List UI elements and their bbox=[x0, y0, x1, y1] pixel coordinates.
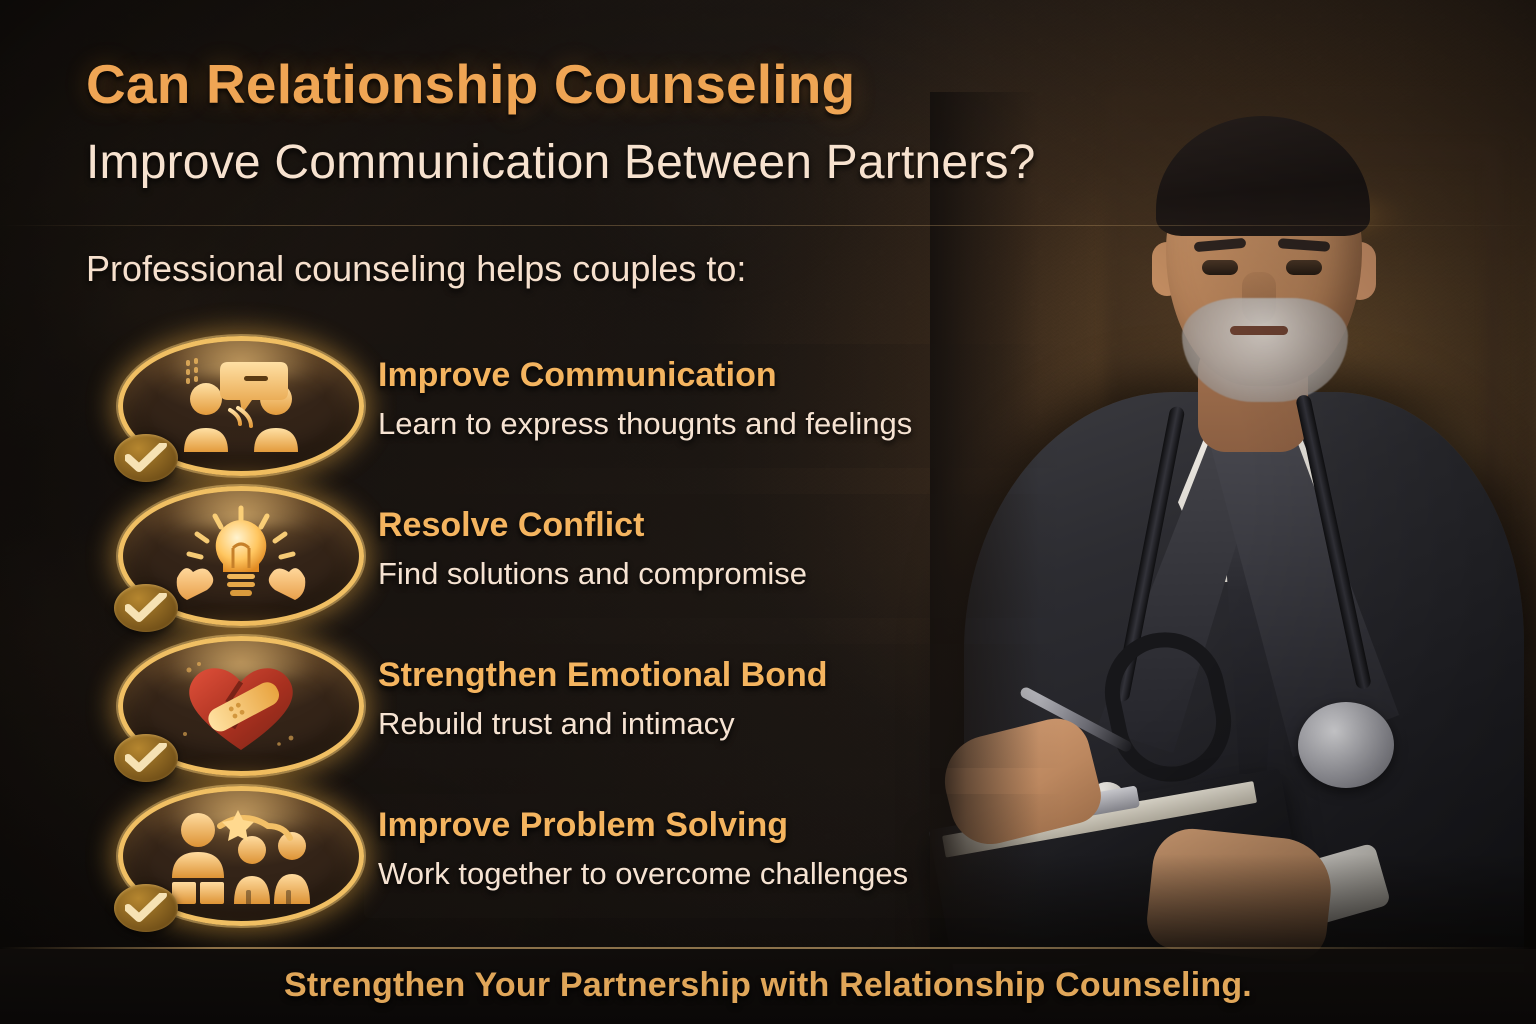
footer-divider bbox=[0, 947, 1536, 949]
benefit-title: Strengthen Emotional Bond bbox=[378, 656, 828, 695]
footer-tagline: Strengthen Your Partnership with Relatio… bbox=[0, 966, 1536, 1005]
page-title-line2: Improve Communication Between Partners? bbox=[86, 135, 1036, 190]
benefit-item: Resolve Conflict Find solutions and comp… bbox=[96, 480, 1076, 630]
check-badge-icon bbox=[114, 884, 178, 932]
benefit-subtitle: Rebuild trust and intimacy bbox=[378, 706, 735, 742]
page-title-line1: Can Relationship Counseling bbox=[86, 52, 855, 116]
benefit-item: Improve Communication Learn to express t… bbox=[96, 330, 1076, 480]
benefit-icon-badge bbox=[118, 636, 364, 776]
benefit-icon-badge bbox=[118, 486, 364, 626]
lead-in-text: Professional counseling helps couples to… bbox=[86, 248, 746, 290]
benefits-list: Improve Communication Learn to express t… bbox=[96, 330, 1076, 930]
benefit-item: Improve Problem Solving Work together to… bbox=[96, 780, 1076, 930]
check-badge-icon bbox=[114, 584, 178, 632]
check-badge-icon bbox=[114, 434, 178, 482]
benefit-subtitle: Learn to express thougnts and feelings bbox=[378, 406, 912, 442]
benefit-item: Strengthen Emotional Bond Rebuild trust … bbox=[96, 630, 1076, 780]
infographic-poster: Can Relationship Counseling Improve Comm… bbox=[0, 0, 1536, 1024]
check-badge-icon bbox=[114, 734, 178, 782]
benefit-title: Improve Communication bbox=[378, 356, 777, 395]
benefit-title: Improve Problem Solving bbox=[378, 806, 788, 845]
benefit-icon-badge bbox=[118, 336, 364, 476]
benefit-subtitle: Work together to overcome challenges bbox=[378, 856, 908, 892]
benefit-icon-badge bbox=[118, 786, 364, 926]
header-divider bbox=[0, 225, 1536, 226]
benefit-subtitle: Find solutions and compromise bbox=[378, 556, 807, 592]
benefit-title: Resolve Conflict bbox=[378, 506, 644, 545]
header: Can Relationship Counseling Improve Comm… bbox=[0, 0, 1536, 225]
